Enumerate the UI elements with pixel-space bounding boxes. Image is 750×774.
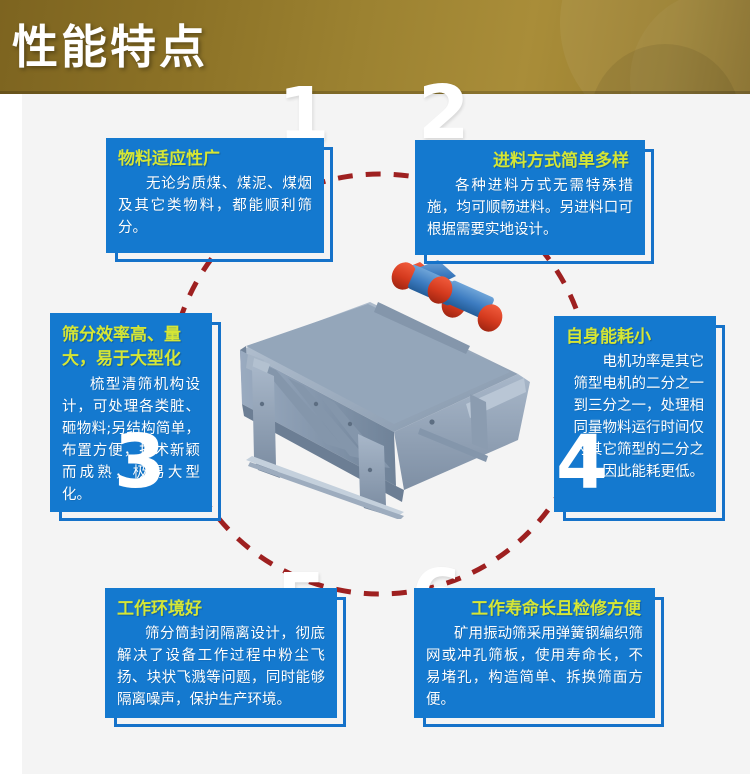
- card-3-title: 筛分效率高、量大，易于大型化: [62, 323, 200, 371]
- card-1-text: 无论劣质煤、煤泥、煤烟及其它类物料，都能顺利筛分。: [118, 173, 312, 239]
- feature-card-2[interactable]: 进料方式简单多样 各种进料方式无需特殊措施，均可顺畅进料。另进料口可根据需要实地…: [415, 140, 645, 255]
- card-5-title: 工作环境好: [117, 598, 325, 620]
- card-5-body: 工作环境好 筛分筒封闭隔离设计，彻底解决了设备工作过程中粉尘飞扬、块状飞溅等问题…: [105, 588, 337, 718]
- card-number-2: 2: [418, 76, 470, 150]
- feature-card-4[interactable]: 自身能耗小 电机功率是其它筛型电机的二分之一到三分之一，处理相同量物料运行时间仅…: [554, 316, 716, 512]
- feature-card-1[interactable]: 物料适应性广 无论劣质煤、煤泥、煤烟及其它类物料，都能顺利筛分。: [106, 138, 324, 253]
- feature-card-6[interactable]: 工作寿命长且检修方便 矿用振动筛采用弹簧钢编织筛网或冲孔筛板，使用寿命长，不易堵…: [414, 588, 655, 718]
- card-6-title: 工作寿命长且检修方便: [426, 598, 643, 620]
- card-number-3: 3: [114, 425, 166, 499]
- card-2-text: 各种进料方式无需特殊措施，均可顺畅进料。另进料口可根据需要实地设计。: [427, 175, 633, 241]
- content-canvas: 1 2 5 6 物料适应性广 无论劣质煤、煤泥、煤烟及其它类物料，都能顺利筛分。…: [0, 94, 750, 774]
- card-6-body: 工作寿命长且检修方便 矿用振动筛采用弹簧钢编织筛网或冲孔筛板，使用寿命长，不易堵…: [414, 588, 655, 718]
- header-banner: 性能特点: [0, 0, 750, 94]
- page-title: 性能特点: [12, 18, 208, 76]
- card-1-body: 物料适应性广 无论劣质煤、煤泥、煤烟及其它类物料，都能顺利筛分。: [106, 138, 324, 253]
- feature-card-3[interactable]: 筛分效率高、量大，易于大型化 梳型清筛机构设计，可处理各类脏、砸物料;另结构简单…: [50, 313, 212, 512]
- card-1-title: 物料适应性广: [118, 148, 312, 170]
- card-6-text: 矿用振动筛采用弹簧钢编织筛网或冲孔筛板，使用寿命长，不易堵孔，构造简单、拆换筛面…: [426, 623, 643, 711]
- performance-features-infographic: 性能特点: [0, 0, 750, 774]
- card-4-title: 自身能耗小: [566, 326, 704, 348]
- card-5-text: 筛分筒封闭隔离设计，彻底解决了设备工作过程中粉尘飞扬、块状飞溅等问题，同时能够隔…: [117, 623, 325, 711]
- card-2-body: 进料方式简单多样 各种进料方式无需特殊措施，均可顺畅进料。另进料口可根据需要实地…: [415, 140, 645, 255]
- card-number-4: 4: [556, 426, 608, 500]
- card-2-title: 进料方式简单多样: [427, 150, 633, 172]
- feature-card-5[interactable]: 工作环境好 筛分筒封闭隔离设计，彻底解决了设备工作过程中粉尘飞扬、块状飞溅等问题…: [105, 588, 337, 718]
- vibrating-screen-machine-image: [218, 254, 548, 519]
